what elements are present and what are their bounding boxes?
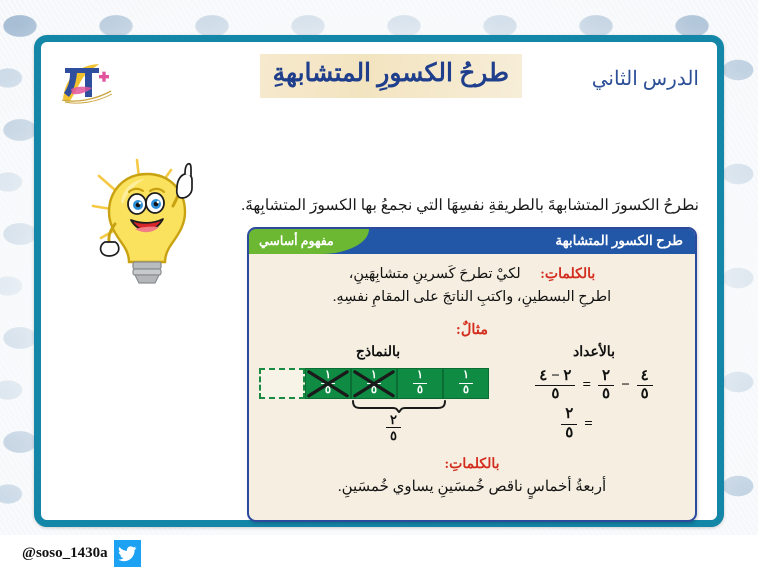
equation-row-1: ٢ − ٤ ٥ = ٢ ٥ − ٤ — [501, 369, 687, 404]
fraction-term-2: ٤ ٥ — [637, 369, 653, 404]
rule-line-one: بالكلماتِ: لكيْ تطرحَ كَسرينِ متشابِهَين… — [249, 261, 695, 286]
concept-box-title: طرح الكسور المتشابهة — [555, 233, 683, 249]
slide-title-highlight: طرحُ الكسورِ المتشابهةِ — [260, 54, 522, 98]
models-heading: بالنماذج — [255, 344, 501, 361]
fraction-numerator: ٢ — [598, 369, 614, 387]
conclusion-label-row: بالكلماتِ: — [263, 454, 681, 476]
twitter-badge[interactable]: @soso_1430a — [22, 540, 141, 567]
rule-line-two: اطرحِ البسطينِ، واكتبِ الناتجَ على المقا… — [249, 286, 695, 310]
conclusion-block: بالكلماتِ: أربعةُ أخماسٍ ناقص خُمسَينِ ي… — [249, 454, 695, 497]
page-title: طرحُ الكسورِ المتشابهةِ — [273, 60, 509, 89]
brace-wrap: ٢ ٥ — [255, 400, 501, 438]
fraction-numerator: ٢ − ٤ — [535, 369, 575, 387]
equation-row-2: ٢ ٥ = — [501, 407, 687, 442]
numbers-heading: بالأعداد — [501, 344, 687, 361]
example-label: مثالٌ: — [456, 322, 488, 338]
cell-denominator: ٥ — [463, 384, 469, 397]
rule-words-label: بالكلماتِ: — [540, 267, 595, 282]
demo-area: بالأعداد ٢ − ٤ ٥ = ٢ ٥ — [249, 344, 695, 452]
fraction-denominator: ٥ — [602, 386, 610, 403]
rule-text-line-1: لكيْ تطرحَ كَسرينِ متشابِهَينِ، — [349, 266, 521, 282]
fraction-denominator: ٥ — [551, 386, 559, 403]
fraction-denominator: ٥ — [641, 386, 649, 403]
concept-box: مفهوم أساسي طرح الكسور المتشابهة بالكلما… — [247, 227, 697, 522]
fraction-cell: ١ ٥ — [397, 368, 443, 399]
concept-box-body: بالكلماتِ: لكيْ تطرحَ كَسرينِ متشابِهَين… — [249, 254, 695, 520]
curly-brace-icon — [351, 400, 447, 413]
fraction-strip: ١ ٥ ١ ٥ — [255, 368, 501, 399]
fraction-numerator: ٢ — [561, 407, 577, 425]
brace-numerator: ٢ — [386, 413, 401, 429]
equation-rows: ٢ − ٤ ٥ = ٢ ٥ − ٤ — [501, 369, 687, 442]
cell-numerator: ١ — [321, 370, 335, 384]
cell-denominator: ٥ — [417, 384, 423, 397]
minus-sign: − — [621, 377, 630, 394]
lesson-label: الدرس الثاني — [592, 66, 699, 91]
fraction-denominator: ٥ — [565, 425, 573, 442]
brace-denominator: ٥ — [390, 428, 397, 443]
footer-bar: @soso_1430a — [0, 535, 758, 570]
fraction-cell-crossed: ١ ٥ — [305, 368, 351, 399]
fraction-cell-empty — [259, 368, 305, 399]
twitter-icon[interactable] — [114, 540, 141, 567]
fraction-final-result: ٢ ٥ — [561, 407, 577, 442]
lightbulb-mascot-icon — [85, 154, 205, 286]
example-label-row: مثالٌ: — [249, 319, 695, 341]
cell-numerator: ١ — [459, 370, 473, 384]
fraction-cell: ١ ٥ — [443, 368, 489, 399]
fraction-cell-crossed: ١ ٥ — [351, 368, 397, 399]
conclusion-words-label: بالكلماتِ: — [445, 457, 500, 472]
models-column: بالنماذج ١ ٥ — [255, 344, 501, 438]
cell-fraction: ١ ٥ — [367, 370, 381, 396]
slide-card: طرحُ الكسورِ المتشابهةِ الدرس الثاني — [34, 35, 724, 527]
fraction-term-1: ٢ ٥ — [598, 369, 614, 404]
concept-box-header: مفهوم أساسي طرح الكسور المتشابهة — [249, 229, 695, 254]
twitter-handle: @soso_1430a — [22, 545, 108, 562]
equals-sign: = — [584, 416, 593, 433]
cell-denominator: ٥ — [325, 384, 331, 397]
cell-fraction: ١ ٥ — [459, 370, 473, 396]
concept-tab-label: مفهوم أساسي — [259, 233, 334, 249]
brace-fraction: ٢ ٥ — [386, 413, 401, 443]
slide-header: طرحُ الكسورِ المتشابهةِ الدرس الثاني — [41, 48, 717, 110]
cell-denominator: ٥ — [371, 384, 377, 397]
cell-numerator: ١ — [413, 370, 427, 384]
fraction-result-first: ٢ − ٤ ٥ — [535, 369, 575, 404]
equals-sign: = — [582, 377, 591, 394]
numbers-column: بالأعداد ٢ − ٤ ٥ = ٢ ٥ — [501, 344, 687, 442]
cell-fraction: ١ ٥ — [321, 370, 335, 396]
brand-logo-icon — [55, 55, 117, 107]
cell-numerator: ١ — [367, 370, 381, 384]
slide-root: طرحُ الكسورِ المتشابهةِ الدرس الثاني — [0, 0, 758, 570]
fraction-numerator: ٤ — [637, 369, 653, 387]
intro-text: نطرحُ الكسورَ المتشابهةَ بالطريقةِ نفسِه… — [199, 194, 699, 217]
conclusion-sentence: أربعةُ أخماسٍ ناقص خُمسَينِ يساوي خُمسَي… — [263, 477, 681, 496]
cell-fraction: ١ ٥ — [413, 370, 427, 396]
